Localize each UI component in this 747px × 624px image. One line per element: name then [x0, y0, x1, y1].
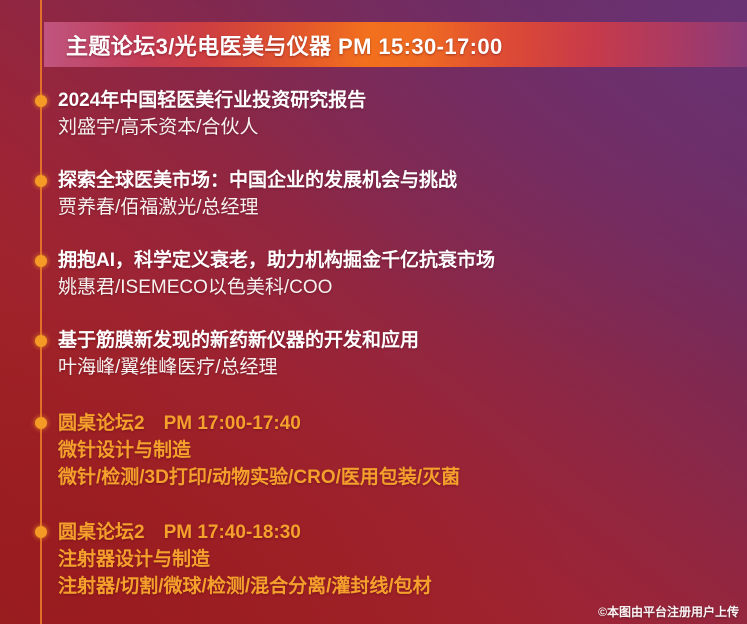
talk-item-1: 2024年中国轻医美行业投资研究报告 刘盛宇/高禾资本/合伙人 [58, 88, 737, 142]
forum-header-bar: 主题论坛3/光电医美与仪器 PM 15:30-17:00 [44, 22, 747, 67]
timeline-dot-talk-2 [35, 175, 47, 187]
talk-speaker: 叶海峰/翼维峰医疗/总经理 [58, 354, 737, 382]
roundtable-item-2: 圆桌论坛2 PM 17:40-18:30 注射器设计与制造 注射器/切割/微球/… [58, 519, 737, 600]
roundtable-tags: 注射器/切割/微球/检测/混合分离/灌封线/包材 [58, 573, 737, 600]
forum-header-title: 主题论坛3/光电医美与仪器 PM 15:30-17:00 [66, 29, 503, 61]
agenda-poster: 主题论坛3/光电医美与仪器 PM 15:30-17:00 2024年中国轻医美行… [0, 0, 747, 624]
roundtable-subject: 注射器设计与制造 [58, 546, 737, 573]
talk-title: 拥抱AI，科学定义衰老，助力机构掘金千亿抗衰市场 [58, 248, 737, 274]
timeline-dot-roundtable-2 [35, 526, 47, 538]
roundtable-tags: 微针/检测/3D打印/动物实验/CRO/医用包装/灭菌 [58, 464, 737, 491]
talk-item-4: 基于筋膜新发现的新药新仪器的开发和应用 叶海峰/翼维峰医疗/总经理 [58, 328, 737, 382]
talk-title: 探索全球医美市场：中国企业的发展机会与挑战 [58, 168, 737, 194]
talk-speaker: 贾养春/佰福激光/总经理 [58, 194, 737, 222]
roundtable-subject: 微针设计与制造 [58, 437, 737, 464]
talk-title: 2024年中国轻医美行业投资研究报告 [58, 88, 737, 114]
talk-speaker: 姚惠君/ISEMECO以色美科/COO [58, 274, 737, 302]
roundtable-item-1: 圆桌论坛2 PM 17:00-17:40 微针设计与制造 微针/检测/3D打印/… [58, 410, 737, 491]
talk-item-2: 探索全球医美市场：中国企业的发展机会与挑战 贾养春/佰福激光/总经理 [58, 168, 737, 222]
upload-watermark: ©本图由平台注册用户上传 [598, 603, 739, 620]
roundtable-heading: 圆桌论坛2 PM 17:00-17:40 [58, 410, 737, 437]
talk-speaker: 刘盛宇/高禾资本/合伙人 [58, 114, 737, 142]
timeline-dot-talk-1 [35, 95, 47, 107]
timeline-dot-roundtable-1 [35, 417, 47, 429]
talk-item-3: 拥抱AI，科学定义衰老，助力机构掘金千亿抗衰市场 姚惠君/ISEMECO以色美科… [58, 248, 737, 302]
timeline-dot-talk-4 [35, 335, 47, 347]
talk-title: 基于筋膜新发现的新药新仪器的开发和应用 [58, 328, 737, 354]
roundtable-heading: 圆桌论坛2 PM 17:40-18:30 [58, 519, 737, 546]
timeline-dot-talk-3 [35, 255, 47, 267]
